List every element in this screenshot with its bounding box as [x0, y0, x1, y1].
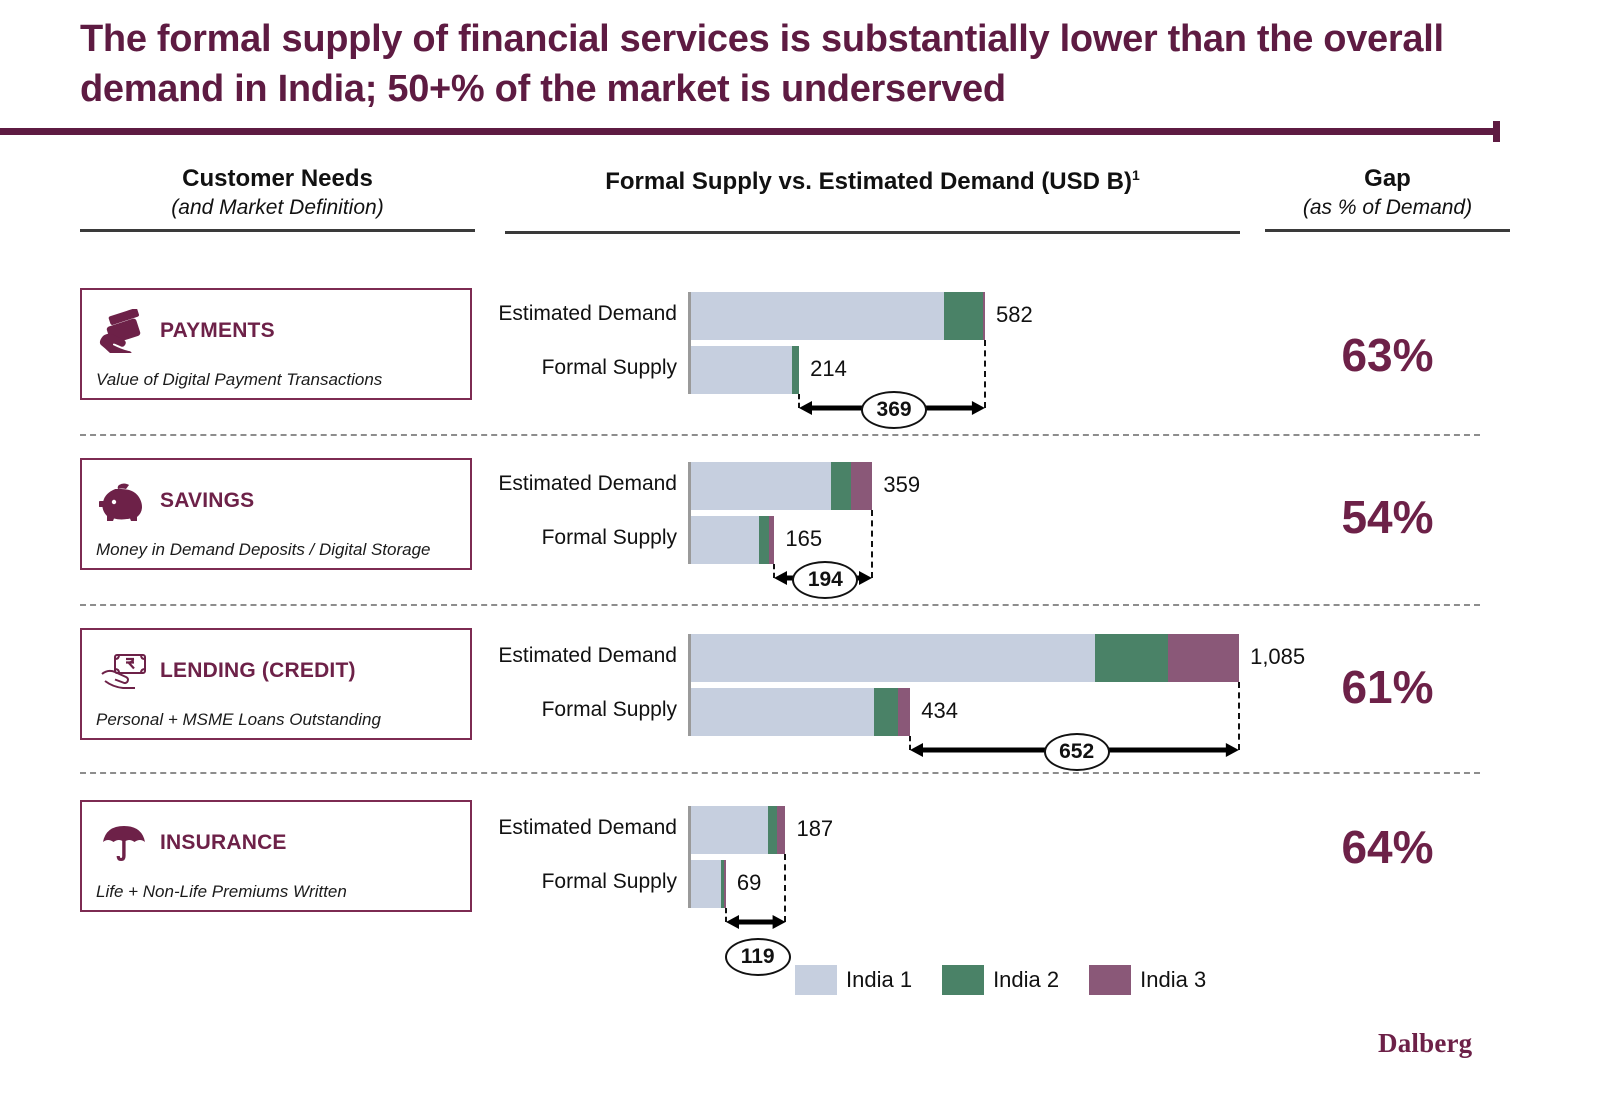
stacked-bar-supply	[691, 516, 774, 564]
legend-item-india-3: India 3	[1089, 965, 1206, 995]
legend-item-india-1: India 1	[795, 965, 912, 995]
need-label-savings: SAVINGS	[160, 489, 254, 513]
need-label-insurance: INSURANCE	[160, 831, 287, 855]
bar-segment-india-2	[759, 516, 770, 564]
need-card-header: INSURANCE	[82, 802, 470, 870]
gap-arrow	[725, 911, 787, 933]
row-divider	[80, 772, 1480, 774]
row-divider	[80, 604, 1480, 606]
column-header-gap-subtitle: (as % of Demand)	[1265, 195, 1510, 220]
gap-value-badge: 194	[792, 561, 858, 599]
bar-value-label-supply: 214	[810, 356, 847, 382]
bar-segment-india-2	[721, 860, 724, 908]
bar-value-label-supply: 165	[785, 526, 822, 552]
bar-segment-india-3	[769, 516, 774, 564]
gap-arrow	[909, 739, 1240, 761]
bar-segment-india-2	[831, 462, 851, 510]
bar-value-label-demand: 359	[883, 472, 920, 498]
bar-value-label-demand: 187	[796, 816, 833, 842]
legend-item-india-2: India 2	[942, 965, 1059, 995]
column-header-chart-title: Formal Supply vs. Estimated Demand (USD …	[505, 165, 1240, 196]
gap-percent-insurance: 64%	[1265, 820, 1510, 874]
bar-category-label-supply: Formal Supply	[477, 526, 677, 550]
need-card-lending[interactable]: LENDING (CREDIT) Personal + MSME Loans O…	[80, 628, 472, 740]
bar-category-label-supply: Formal Supply	[477, 870, 677, 894]
gap-leader-line-supply	[909, 736, 911, 750]
column-header-underline	[80, 229, 475, 232]
chart-legend: India 1 India 2 India 3	[795, 965, 1222, 995]
stacked-bar-supply	[691, 860, 726, 908]
bar-segment-india-1	[691, 462, 831, 510]
bar-segment-india-2	[1095, 634, 1168, 682]
bar-segment-india-1	[691, 688, 874, 736]
dalberg-logo: Dalberg	[1378, 1028, 1472, 1059]
chart-axis-line	[688, 462, 691, 564]
bar-category-label-demand: Estimated Demand	[477, 302, 677, 326]
need-card-savings[interactable]: SAVINGS Money in Demand Deposits / Digit…	[80, 458, 472, 570]
need-card-header: LENDING (CREDIT)	[82, 630, 470, 698]
column-header-customer-needs: Customer Needs (and Market Definition)	[80, 165, 475, 232]
column-header-chart-underline	[505, 231, 1240, 234]
legend-label-india-1: India 1	[846, 967, 912, 993]
column-header-chart: Formal Supply vs. Estimated Demand (USD …	[505, 165, 1240, 234]
bar-segment-india-3	[898, 688, 911, 736]
need-card-header: SAVINGS	[82, 460, 470, 528]
gap-leader-line-demand	[784, 854, 786, 922]
need-definition-payments: Value of Digital Payment Transactions	[82, 370, 470, 402]
column-header-gap-underline	[1265, 229, 1510, 232]
bar-segment-india-1	[691, 806, 768, 854]
title-rule	[0, 128, 1500, 135]
bar-segment-india-2	[874, 688, 898, 736]
bar-segment-india-3	[1168, 634, 1239, 682]
gap-arrow	[773, 567, 873, 589]
gap-value-badge: 119	[725, 938, 791, 976]
footnote-marker: 1	[1132, 167, 1140, 183]
gap-value-badge: 369	[861, 391, 927, 429]
gap-leader-line-supply	[798, 394, 800, 408]
bar-value-label-supply: 69	[737, 870, 761, 896]
bar-segment-india-1	[691, 346, 792, 394]
gap-leader-line-demand	[871, 510, 873, 578]
need-definition-insurance: Life + Non-Life Premiums Written	[82, 882, 470, 914]
column-header-customer-needs-title: Customer Needs	[80, 165, 475, 193]
gap-percent-payments: 63%	[1265, 328, 1510, 382]
column-header-gap-title: Gap	[1265, 165, 1510, 193]
gap-leader-line-supply	[773, 564, 775, 578]
page-title: The formal supply of financial services …	[80, 14, 1500, 114]
need-card-insurance[interactable]: INSURANCE Life + Non-Life Premiums Writt…	[80, 800, 472, 912]
gap-percent-savings: 54%	[1265, 490, 1510, 544]
need-card-payments[interactable]: PAYMENTS Value of Digital Payment Transa…	[80, 288, 472, 400]
piggy-bank-icon	[98, 478, 150, 524]
bar-segment-india-3	[851, 462, 872, 510]
bar-category-label-demand: Estimated Demand	[477, 472, 677, 496]
column-header-gap: Gap (as % of Demand)	[1265, 165, 1510, 232]
gap-arrow	[798, 397, 986, 419]
bar-category-label-supply: Formal Supply	[477, 698, 677, 722]
gap-leader-line-supply	[725, 908, 727, 922]
bar-segment-india-1	[691, 516, 759, 564]
stacked-bar-demand	[691, 292, 985, 340]
stacked-bar-demand	[691, 462, 872, 510]
column-header-chart-title-text: Formal Supply vs. Estimated Demand (USD …	[605, 168, 1132, 195]
bar-category-label-demand: Estimated Demand	[477, 816, 677, 840]
row-divider	[80, 434, 1480, 436]
legend-label-india-2: India 2	[993, 967, 1059, 993]
stacked-bar-supply	[691, 688, 910, 736]
stacked-bar-supply	[691, 346, 799, 394]
bar-segment-india-1	[691, 860, 721, 908]
legend-swatch-india-3	[1089, 965, 1131, 995]
legend-swatch-india-2	[942, 965, 984, 995]
hand-holding-cards-icon	[98, 308, 150, 354]
bar-segment-india-1	[691, 634, 1095, 682]
bar-segment-india-2	[768, 806, 778, 854]
bar-segment-india-3	[983, 292, 985, 340]
legend-label-india-3: India 3	[1140, 967, 1206, 993]
bar-category-label-demand: Estimated Demand	[477, 644, 677, 668]
need-label-lending: LENDING (CREDIT)	[160, 659, 356, 683]
bar-category-label-supply: Formal Supply	[477, 356, 677, 380]
legend-swatch-india-1	[795, 965, 837, 995]
need-card-header: PAYMENTS	[82, 290, 470, 358]
bar-segment-india-3	[777, 806, 785, 854]
need-definition-savings: Money in Demand Deposits / Digital Stora…	[82, 540, 470, 572]
umbrella-icon	[98, 820, 150, 866]
title-rule-end-cap	[1493, 121, 1500, 142]
need-label-payments: PAYMENTS	[160, 319, 275, 343]
hand-holding-rupee-note-icon	[98, 648, 150, 694]
chart-axis-line	[688, 634, 691, 736]
bar-segment-india-1	[691, 292, 944, 340]
bar-segment-india-2	[944, 292, 983, 340]
column-header-customer-needs-subtitle: (and Market Definition)	[80, 195, 475, 220]
gap-value-badge: 652	[1044, 733, 1110, 771]
bar-segment-india-3	[724, 860, 726, 908]
bar-value-label-demand: 582	[996, 302, 1033, 328]
bar-value-label-supply: 434	[921, 698, 958, 724]
chart-axis-line	[688, 292, 691, 394]
gap-percent-lending: 61%	[1265, 660, 1510, 714]
stacked-bar-demand	[691, 806, 785, 854]
gap-leader-line-demand	[984, 340, 986, 408]
bar-segment-india-2	[792, 346, 799, 394]
chart-axis-line	[688, 806, 691, 908]
need-definition-lending: Personal + MSME Loans Outstanding	[82, 710, 470, 742]
gap-leader-line-demand	[1238, 682, 1240, 750]
stacked-bar-demand	[691, 634, 1239, 682]
